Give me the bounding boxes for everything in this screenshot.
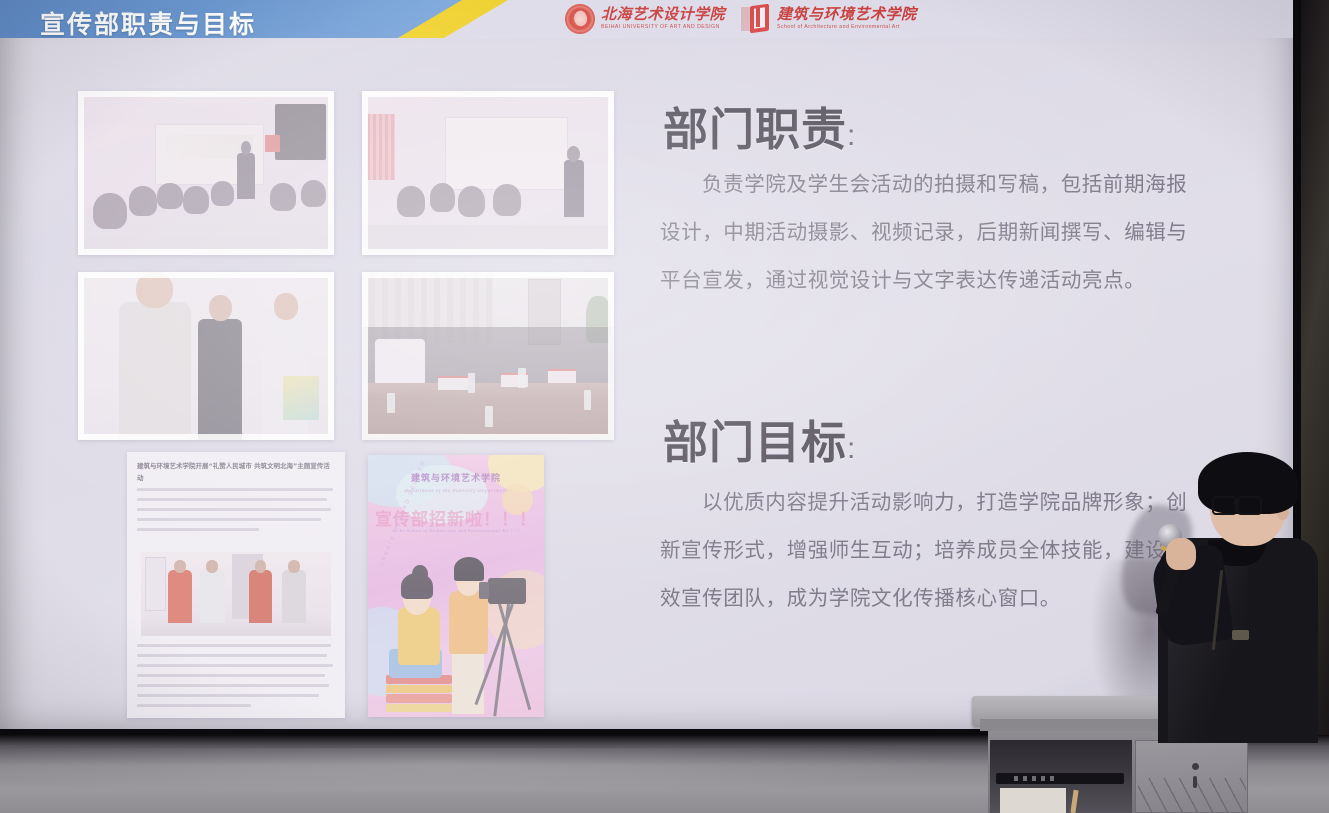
- logo-cn-name: 北海艺术设计学院: [601, 8, 725, 23]
- lectern-knob-icon[interactable]: [1192, 763, 1199, 770]
- book-building-emblem-icon: [741, 5, 771, 33]
- lectern-paper: [1000, 788, 1066, 813]
- logo-group: 北海艺术设计学院 BEIHAI UNIVERSITY OF ART AND DE…: [565, 1, 917, 37]
- jacket-logo-patch: [1232, 630, 1249, 640]
- slide-header-band: 宣传部职责与目标 北海艺术设计学院 BEIHAI UNIVERSITY OF A…: [0, 0, 1300, 38]
- lectern-vent-slots: [1138, 778, 1246, 813]
- leaders-visit-photo: [78, 272, 334, 440]
- lectern-control-strip: [996, 773, 1124, 784]
- page-title: 宣传部职责与目标: [40, 5, 256, 38]
- wall-sheen: [0, 748, 980, 798]
- presenter-with-microphone: [1150, 452, 1329, 743]
- section-heading-text: 部门职责: [663, 104, 847, 155]
- logo-en-name: BEIHAI UNIVERSITY OF ART AND DESIGN: [601, 25, 725, 30]
- classroom-meeting-photo: [78, 91, 334, 255]
- section-heading-goals: 部门目标:: [663, 406, 856, 471]
- lecture-room-photo: [362, 91, 614, 255]
- logo-en-name: School of Architecture and Environmental…: [777, 25, 917, 30]
- section-heading-colon: :: [847, 432, 856, 465]
- presenter-hand: [1166, 538, 1196, 570]
- logo-cn-name: 建筑与环境艺术学院: [777, 8, 917, 23]
- lectern-lock-icon[interactable]: [1193, 776, 1197, 788]
- section-heading-text: 部门目标: [663, 417, 847, 468]
- recruitment-poster: 建筑与环境艺术学院 Department of the Publicity De…: [368, 455, 544, 717]
- section-heading-duties: 部门职责:: [663, 93, 856, 158]
- conference-table-photo: [362, 272, 614, 440]
- section-heading-colon: :: [847, 119, 856, 152]
- logo-school-of-architecture: 建筑与环境艺术学院 School of Architecture and Env…: [741, 5, 917, 33]
- screenshot-stage: 宣传部职责与目标 北海艺术设计学院 BEIHAI UNIVERSITY OF A…: [0, 0, 1329, 813]
- glasses-icon: [1212, 496, 1258, 511]
- wechat-article-screenshot: 建筑与环境艺术学院开展“礼赞人民城市 共筑文明北海”主题宣传活动: [127, 452, 345, 718]
- logo-beihai-university: 北海艺术设计学院 BEIHAI UNIVERSITY OF ART AND DE…: [565, 4, 725, 34]
- section-body-duties: 负责学院及学生会活动的拍摄和写稿，包括前期海报设计，中期活动摄影、视频记录，后期…: [660, 160, 1200, 304]
- spiral-emblem-icon: [565, 4, 595, 34]
